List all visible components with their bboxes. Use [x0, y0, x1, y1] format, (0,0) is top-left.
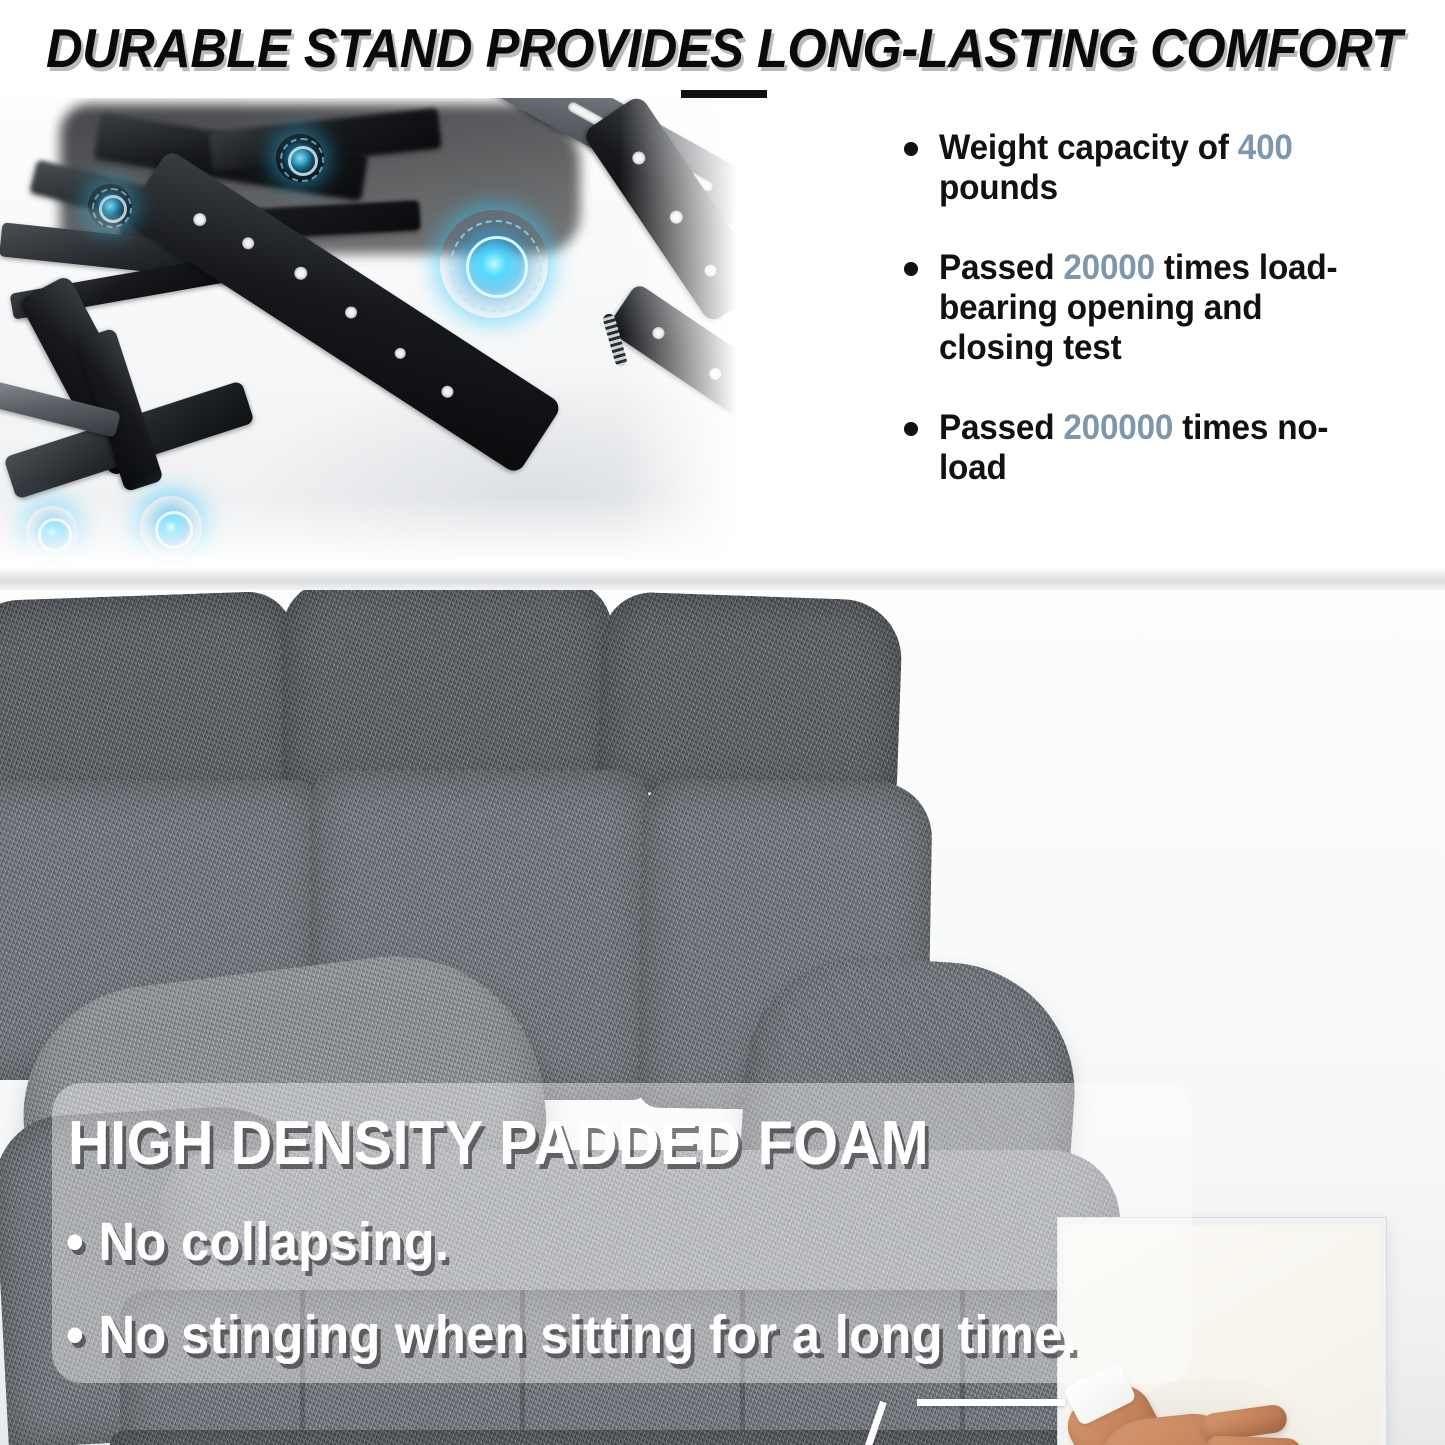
joint-glow-icon [276, 134, 324, 182]
product-feature-infographic: DURABLE STAND PROVIDES LONG-LASTING COMF… [0, 0, 1445, 1445]
bullet-dot-icon [904, 142, 918, 156]
hand-pressing-foam [1073, 1375, 1313, 1445]
spec-prefix: Weight capacity of [939, 128, 1238, 167]
joint-glow-icon [440, 210, 548, 318]
spec-prefix: Passed [939, 248, 1063, 287]
spec-suffix: pounds [939, 168, 1058, 207]
caption-bullet-1: • No collapsing. [66, 1212, 1175, 1272]
caption-title: HIGH DENSITY PADDED FOAM [68, 1110, 1110, 1178]
bullet-dot-icon [904, 422, 918, 436]
backrest-cushion-left [0, 590, 300, 811]
finger [1205, 1435, 1302, 1445]
spec-prefix: Passed [939, 408, 1063, 447]
backrest-cushion-center [282, 590, 612, 795]
spec-number: 200000 [1063, 408, 1173, 447]
joint-glow-icon [88, 184, 132, 228]
spec-item-load-bearing-cycles: Passed 20000 times load-bearing opening … [893, 248, 1393, 368]
spec-item-no-load-cycles: Passed 200000 times no-load [893, 408, 1393, 488]
photo-fade-bottom [0, 498, 770, 568]
spec-number: 20000 [1063, 248, 1155, 287]
caption-bullet-2: • No stinging when sitting for a long ti… [66, 1305, 1175, 1365]
page-title: DURABLE STAND PROVIDES LONG-LASTING COMF… [46, 18, 1325, 80]
base-skirt [110, 1430, 1150, 1445]
spec-number: 400 [1238, 128, 1293, 167]
mechanism-photo [0, 98, 770, 568]
callout-line-horizontal [917, 1399, 1065, 1406]
backrest-cushion-right [597, 591, 904, 801]
bullet-dot-icon [904, 262, 918, 276]
top-section: DURABLE STAND PROVIDES LONG-LASTING COMF… [0, 0, 1445, 578]
spec-list: Weight capacity of 400 pounds Passed 200… [893, 128, 1393, 528]
section-divider [0, 568, 1445, 590]
spec-item-weight-capacity: Weight capacity of 400 pounds [893, 128, 1393, 208]
